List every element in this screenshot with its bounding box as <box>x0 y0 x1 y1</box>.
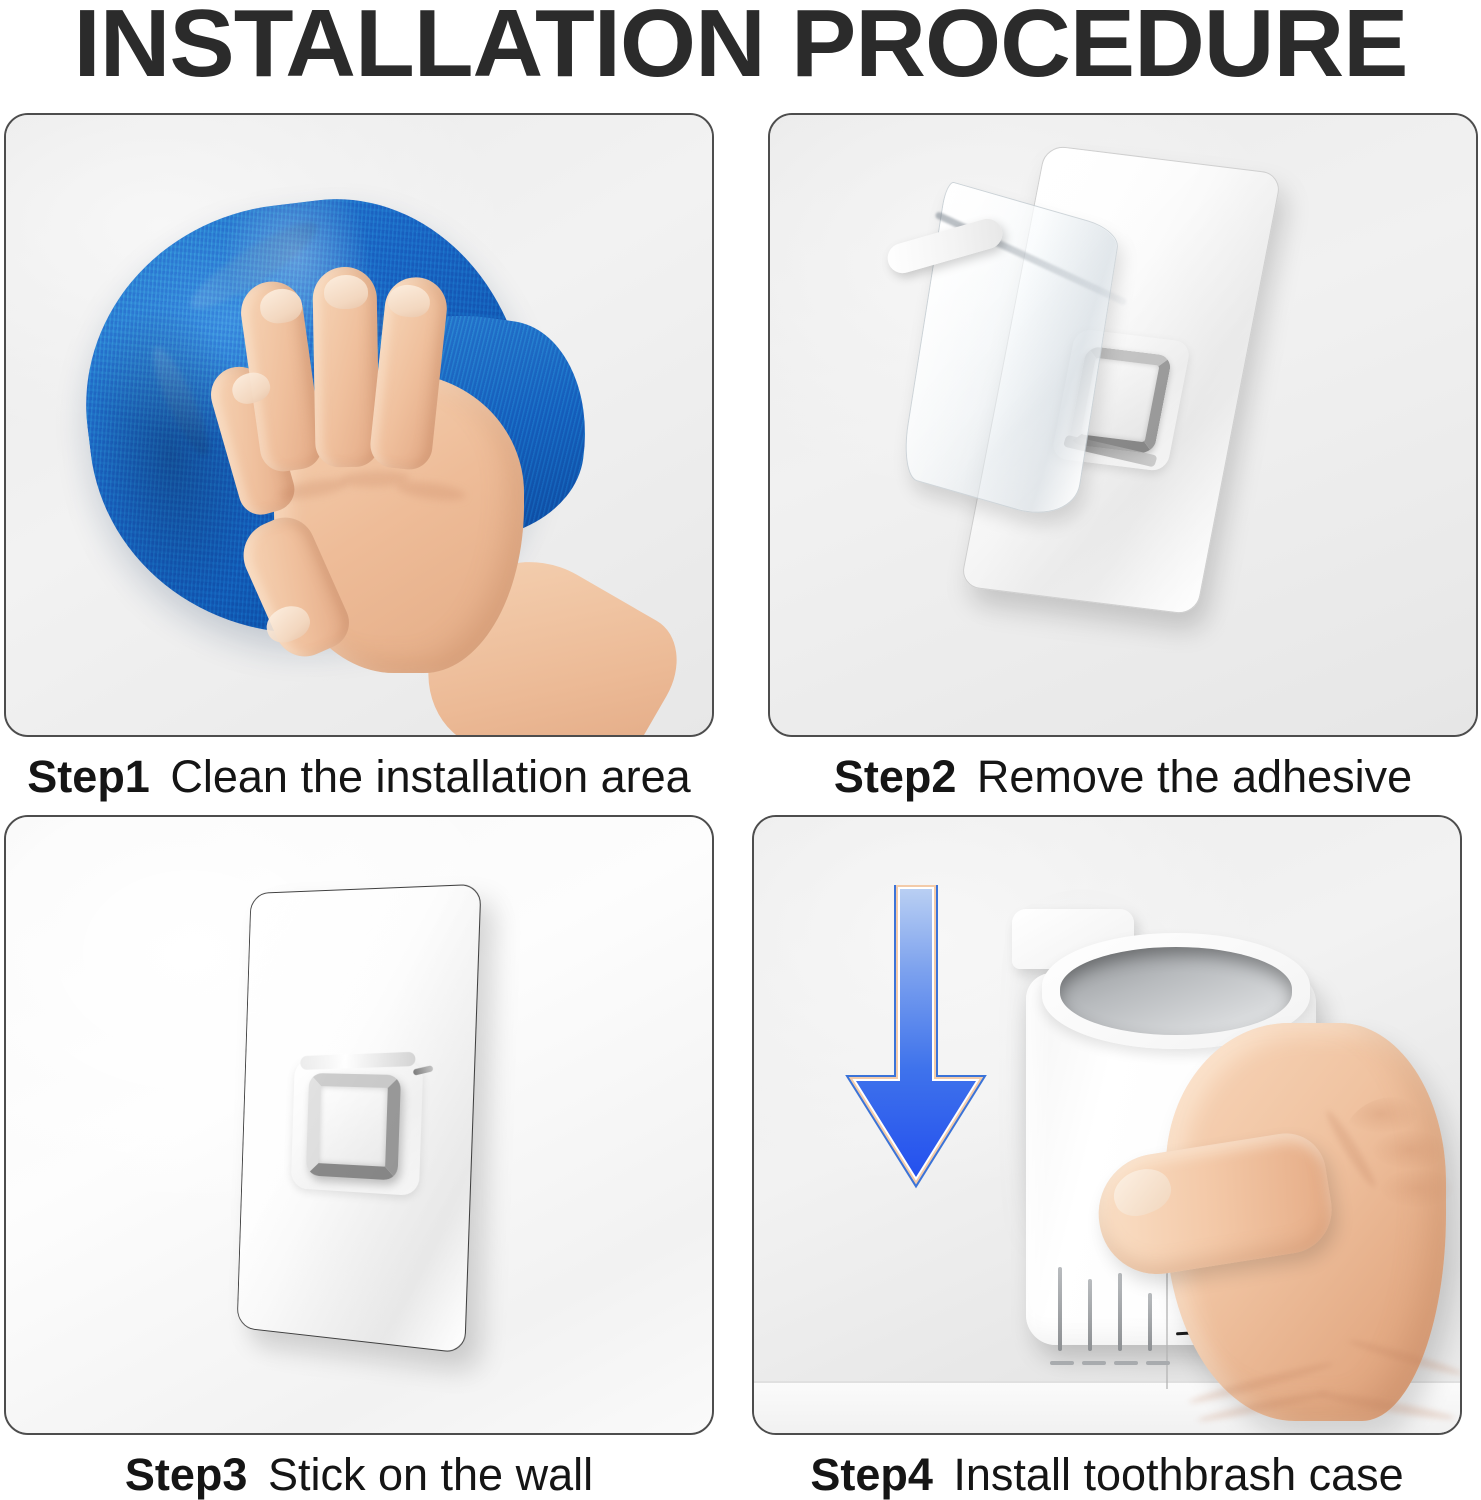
page-title: INSTALLATION PROCEDURE <box>0 0 1481 94</box>
step-1-label: Step1 <box>27 751 150 802</box>
slot-pin <box>1058 1267 1062 1351</box>
step-3-text: Stick on the wall <box>268 1449 593 1500</box>
adhesive-sticker-icon <box>237 884 482 1354</box>
step-4-caption: Step4 Install toothbrash case <box>752 1449 1462 1500</box>
step-2-label: Step2 <box>834 751 957 802</box>
step-4-label: Step4 <box>810 1449 933 1500</box>
step-card-4: Step4 Install toothbrash case <box>752 815 1462 1500</box>
step-3-label: Step3 <box>125 1449 248 1500</box>
square-hook-icon <box>291 1059 424 1196</box>
slot-pin <box>1088 1279 1092 1351</box>
step-4-text: Install toothbrash case <box>953 1449 1403 1500</box>
hand-icon <box>1126 967 1462 1435</box>
hook-lip <box>300 1052 415 1070</box>
step-card-3: Step3 Stick on the wall <box>4 815 714 1500</box>
arrow-down-icon <box>836 885 996 1215</box>
step-4-image-panel <box>752 815 1462 1435</box>
slot-pin <box>1118 1273 1122 1351</box>
step-1-text: Clean the installation area <box>170 751 690 802</box>
step-1-caption: Step1 Clean the installation area <box>4 751 714 803</box>
hook-pin <box>413 1065 434 1076</box>
slot-slit <box>1050 1361 1074 1365</box>
step-2-image-panel <box>768 113 1478 737</box>
skin-crease <box>1347 1337 1462 1379</box>
step-card-1: Step1 Clean the installation area <box>4 113 714 803</box>
slot-slit <box>1082 1361 1106 1365</box>
step-3-caption: Step3 Stick on the wall <box>4 1449 714 1500</box>
fingernail <box>1107 1161 1177 1223</box>
hand-icon <box>154 255 624 735</box>
step-2-text: Remove the adhesive <box>977 751 1412 802</box>
fingernail <box>324 275 369 310</box>
skin-crease <box>1316 1389 1456 1423</box>
step-1-image-panel <box>4 113 714 737</box>
step-3-image-panel <box>4 815 714 1435</box>
installation-procedure-infographic: INSTALLATION PROCEDURE <box>0 0 1481 1500</box>
step-card-2: Step2 Remove the adhesive <box>768 113 1478 803</box>
hook-ring <box>306 1073 401 1181</box>
step-2-caption: Step2 Remove the adhesive <box>768 751 1478 803</box>
